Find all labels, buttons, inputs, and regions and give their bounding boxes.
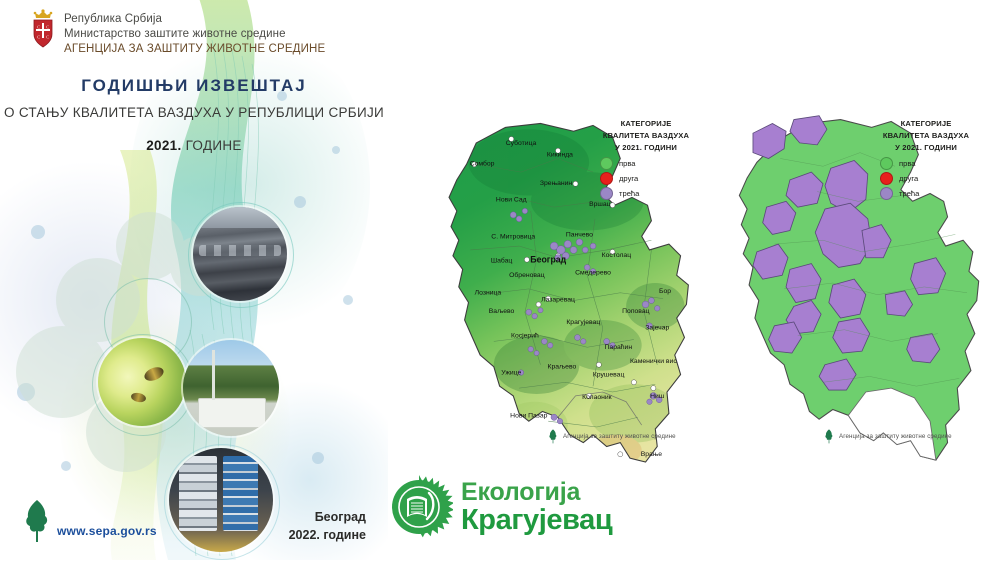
- logo-line-1: Екологија: [461, 480, 612, 505]
- city-label: С. Митровица: [491, 233, 535, 240]
- city-label: Смедерево: [575, 269, 611, 276]
- city-label: Београд: [530, 255, 566, 265]
- instrument-rack-photo: [169, 448, 273, 552]
- svg-text:С: С: [46, 35, 49, 40]
- svg-text:С: С: [46, 24, 49, 29]
- legend-swatch: [880, 172, 893, 185]
- city-label: Бор: [659, 288, 671, 295]
- city-label: Ниш: [650, 393, 664, 400]
- leaf-badge-icon: [385, 473, 453, 541]
- article-image: СС СС Република Србија Министарство зашт…: [0, 0, 1000, 571]
- city-label: Лазаревац: [541, 297, 575, 304]
- legend-title-line-2: КВАЛИТЕТА ВАЗДУХА: [866, 130, 986, 142]
- legend-item-2: трећа: [600, 187, 706, 200]
- legend-swatch: [600, 157, 613, 170]
- report-title: ГОДИШЊИ ИЗВЕШТАЈ: [0, 76, 388, 96]
- city-label: Шабац: [491, 257, 513, 265]
- report-cover: СС СС Република Србија Министарство зашт…: [0, 0, 388, 560]
- legend-swatch: [600, 172, 613, 185]
- legend-label: прва: [899, 159, 916, 168]
- city-label: Крагујевац: [566, 319, 600, 326]
- report-year-number: 2021.: [146, 138, 181, 153]
- city-label: Копаоник: [582, 394, 612, 401]
- legend-label: друга: [619, 174, 638, 183]
- legend-label: трећа: [619, 189, 639, 198]
- city-label: Зрењанин: [540, 180, 573, 187]
- agency-tree-icon: [548, 428, 558, 444]
- publication-place-year: Београд 2022. године: [289, 508, 366, 544]
- city-label: Косјерић: [511, 332, 539, 340]
- org-line-3: АГЕНЦИЈА ЗА ЗАШТИТУ ЖИВОТНЕ СРЕДИНЕ: [64, 42, 325, 57]
- legend-label: прва: [619, 159, 636, 168]
- city-label: Нови Сад: [496, 196, 527, 203]
- city-label: Обреновац: [509, 271, 545, 279]
- city-label: Зајечар: [645, 325, 669, 332]
- legend-swatch: [880, 157, 893, 170]
- legend-title-line-3: У 2021. ГОДИНИ: [586, 142, 706, 154]
- legend-item-1: друга: [600, 172, 706, 185]
- ekologija-kragujevac-logo[interactable]: Екологија Крагујевац: [385, 473, 612, 541]
- publication-place: Београд: [289, 508, 366, 526]
- svg-text:С: С: [37, 24, 40, 29]
- city-label: Ваљево: [489, 308, 515, 315]
- city-label: Каменички вис: [630, 358, 677, 365]
- legend-item-1: друга: [880, 172, 986, 185]
- city-label: Сомбор: [470, 159, 495, 167]
- logo-line-2: Крагујевац: [461, 506, 612, 535]
- map-credit-text: Агенција за заштиту животне средине: [839, 433, 952, 440]
- legend-item-0: прва: [880, 157, 986, 170]
- legend-title-line-1: КАТЕГОРИЈЕ: [866, 118, 986, 130]
- traffic-photo: [193, 207, 287, 301]
- map-legend-left: КАТЕГОРИЈЕ КВАЛИТЕТА ВАЗДУХА У 2021. ГОД…: [586, 118, 706, 202]
- report-year: 2021. ГОДИНЕ: [0, 138, 388, 153]
- agency-tree-icon: [22, 498, 52, 542]
- map-credit-text: Агенција за заштиту животне средине: [563, 433, 676, 440]
- city-label: Костолац: [602, 252, 632, 259]
- city-label: Лозница: [475, 290, 502, 297]
- serbian-coat-of-arms-icon: СС СС: [30, 9, 56, 49]
- cover-title-block: ГОДИШЊИ ИЗВЕШТАЈ О СТАЊУ КВАЛИТЕТА ВАЗДУ…: [0, 76, 388, 153]
- city-label: Врање: [641, 451, 663, 458]
- city-label: Кикинда: [547, 152, 573, 159]
- map-legend-right: КАТЕГОРИЈЕ КВАЛИТЕТА ВАЗДУХА У 2021. ГОД…: [866, 118, 986, 202]
- city-label: Краљево: [548, 364, 577, 371]
- legend-item-2: трећа: [880, 187, 986, 200]
- map-credit-left: Агенција за заштиту животне средине: [548, 428, 676, 444]
- city-label: Поповац: [622, 308, 649, 315]
- legend-title-line-3: У 2021. ГОДИНИ: [866, 142, 986, 154]
- legend-item-0: прва: [600, 157, 706, 170]
- city-label: Ужице: [501, 369, 521, 376]
- bee-photo: [98, 338, 186, 426]
- report-subtitle: О СТАЊУ КВАЛИТЕТА ВАЗДУХА У РЕПУБЛИЦИ СР…: [0, 105, 388, 122]
- legend-label: трећа: [899, 189, 919, 198]
- agency-tree-icon: [824, 428, 834, 444]
- report-year-word: ГОДИНЕ: [182, 138, 242, 153]
- monitoring-station-photo: [183, 340, 279, 436]
- city-label: Нови Пазар: [510, 412, 547, 419]
- map-credit-right: Агенција за заштиту животне средине: [824, 428, 952, 444]
- agency-website-link[interactable]: www.sepa.gov.rs: [57, 524, 157, 538]
- svg-text:С: С: [37, 35, 40, 40]
- city-label: Крушевац: [593, 371, 625, 378]
- publication-year: 2022. године: [289, 526, 366, 544]
- city-label: Панчево: [566, 231, 593, 238]
- ministry-header: СС СС Република Србија Министарство зашт…: [30, 9, 325, 58]
- org-line-2: Министарство заштите животне средине: [64, 27, 325, 42]
- legend-title-line-2: КВАЛИТЕТА ВАЗДУХА: [586, 130, 706, 142]
- city-label: Суботица: [506, 139, 537, 147]
- legend-swatch: [600, 187, 613, 200]
- city-label: Параћин: [605, 343, 633, 351]
- org-line-1: Република Србија: [64, 12, 325, 27]
- legend-label: друга: [899, 174, 918, 183]
- legend-swatch: [880, 187, 893, 200]
- legend-title-line-1: КАТЕГОРИЈЕ: [586, 118, 706, 130]
